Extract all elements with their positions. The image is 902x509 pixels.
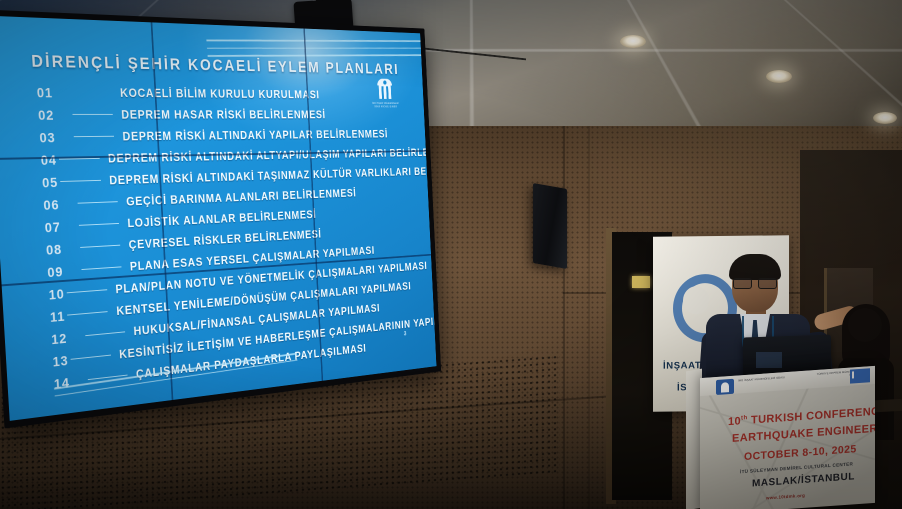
glasses-icon: [733, 278, 777, 287]
ceiling-downlight-icon: [766, 70, 792, 83]
action-plan-list: 01 KOCAELİ BİLİM KURULU KURULMASI 02 DEP…: [36, 81, 414, 395]
list-item-dash: [71, 91, 111, 93]
list-item-dash: [79, 223, 119, 226]
list-item-dash: [60, 180, 101, 183]
list-item-number: 06: [43, 196, 76, 213]
list-item-number: 05: [42, 174, 59, 190]
list-item-dash: [78, 201, 118, 204]
imo-logo-icon: [716, 379, 734, 395]
list-item-dash: [70, 354, 110, 360]
list-item-dash: [74, 136, 114, 138]
wall-panel-seam: [588, 126, 590, 509]
list-item-dash: [85, 331, 125, 336]
slide-page-number: 3: [404, 331, 407, 337]
list-item-number: 02: [38, 107, 71, 123]
presentation-slide: DİRENÇLİ ŞEHİR KOCAELİ EYLEM PLANLARI 01…: [0, 16, 436, 421]
list-item-number: 03: [39, 129, 72, 145]
exit-sign-icon: [632, 276, 650, 288]
list-item-label: DEPREM HASAR RİSKİ BELİRLENMESİ: [121, 108, 326, 121]
conference-room-photo: DİRENÇLİ ŞEHİR KOCAELİ EYLEM PLANLARI 01…: [0, 0, 902, 509]
list-item-number: 09: [47, 262, 80, 280]
slide-logo-caption: İMO İNŞAAT MÜHENDİSLERİ ODASI KOCAELİ ŞU…: [371, 102, 401, 108]
wall-panel-seam: [563, 126, 565, 509]
lectern-logo-left-text: İMO İNŞAAT MÜHENDİSLERİ ODASI: [738, 376, 785, 383]
conference-ordinal: 10: [728, 415, 741, 428]
presenter-hair: [729, 254, 781, 280]
list-item-dash: [66, 289, 107, 293]
list-item-number: 12: [51, 328, 84, 347]
list-item-number: 13: [52, 352, 69, 369]
list-item-dash: [72, 114, 112, 115]
list-item-label: DEPREM RİSKİ ALTINDAKİ YAPILAR BELİRLENM…: [122, 128, 388, 143]
video-wall: DİRENÇLİ ŞEHİR KOCAELİ EYLEM PLANLARI 01…: [0, 9, 441, 428]
list-item: 02 DEPREM HASAR RİSKİ BELİRLENMESİ: [37, 103, 403, 126]
list-item-label: KOCAELİ BİLİM KURULU KURULMASI: [120, 86, 320, 101]
list-item-number: 08: [46, 240, 79, 257]
slide-imo-logo: İMO İNŞAAT MÜHENDİSLERİ ODASI KOCAELİ ŞU…: [370, 79, 401, 109]
list-item-number: 11: [50, 308, 66, 325]
imo-emblem-icon: [377, 79, 393, 99]
list-item-dash: [67, 311, 108, 316]
list-item-number: 10: [48, 285, 65, 302]
attendee-head: [848, 308, 882, 342]
wall-speaker-icon: [533, 183, 567, 269]
list-item-number: 07: [44, 218, 77, 235]
laptop-screen-glow: [756, 352, 782, 368]
lectern-banner: İMO İNŞAAT MÜHENDİSLERİ ODASI TÜRKİYE DE…: [700, 366, 875, 509]
sponsor-logo-icon: [850, 368, 870, 383]
list-item-dash: [81, 266, 121, 270]
ceiling-downlight-icon: [620, 35, 646, 48]
list-item-number: 01: [36, 84, 70, 100]
ceiling-downlight-icon: [873, 112, 897, 124]
list-item-dash: [80, 244, 120, 248]
list-item: 01 KOCAELİ BİLİM KURULU KURULMASI: [36, 81, 402, 105]
